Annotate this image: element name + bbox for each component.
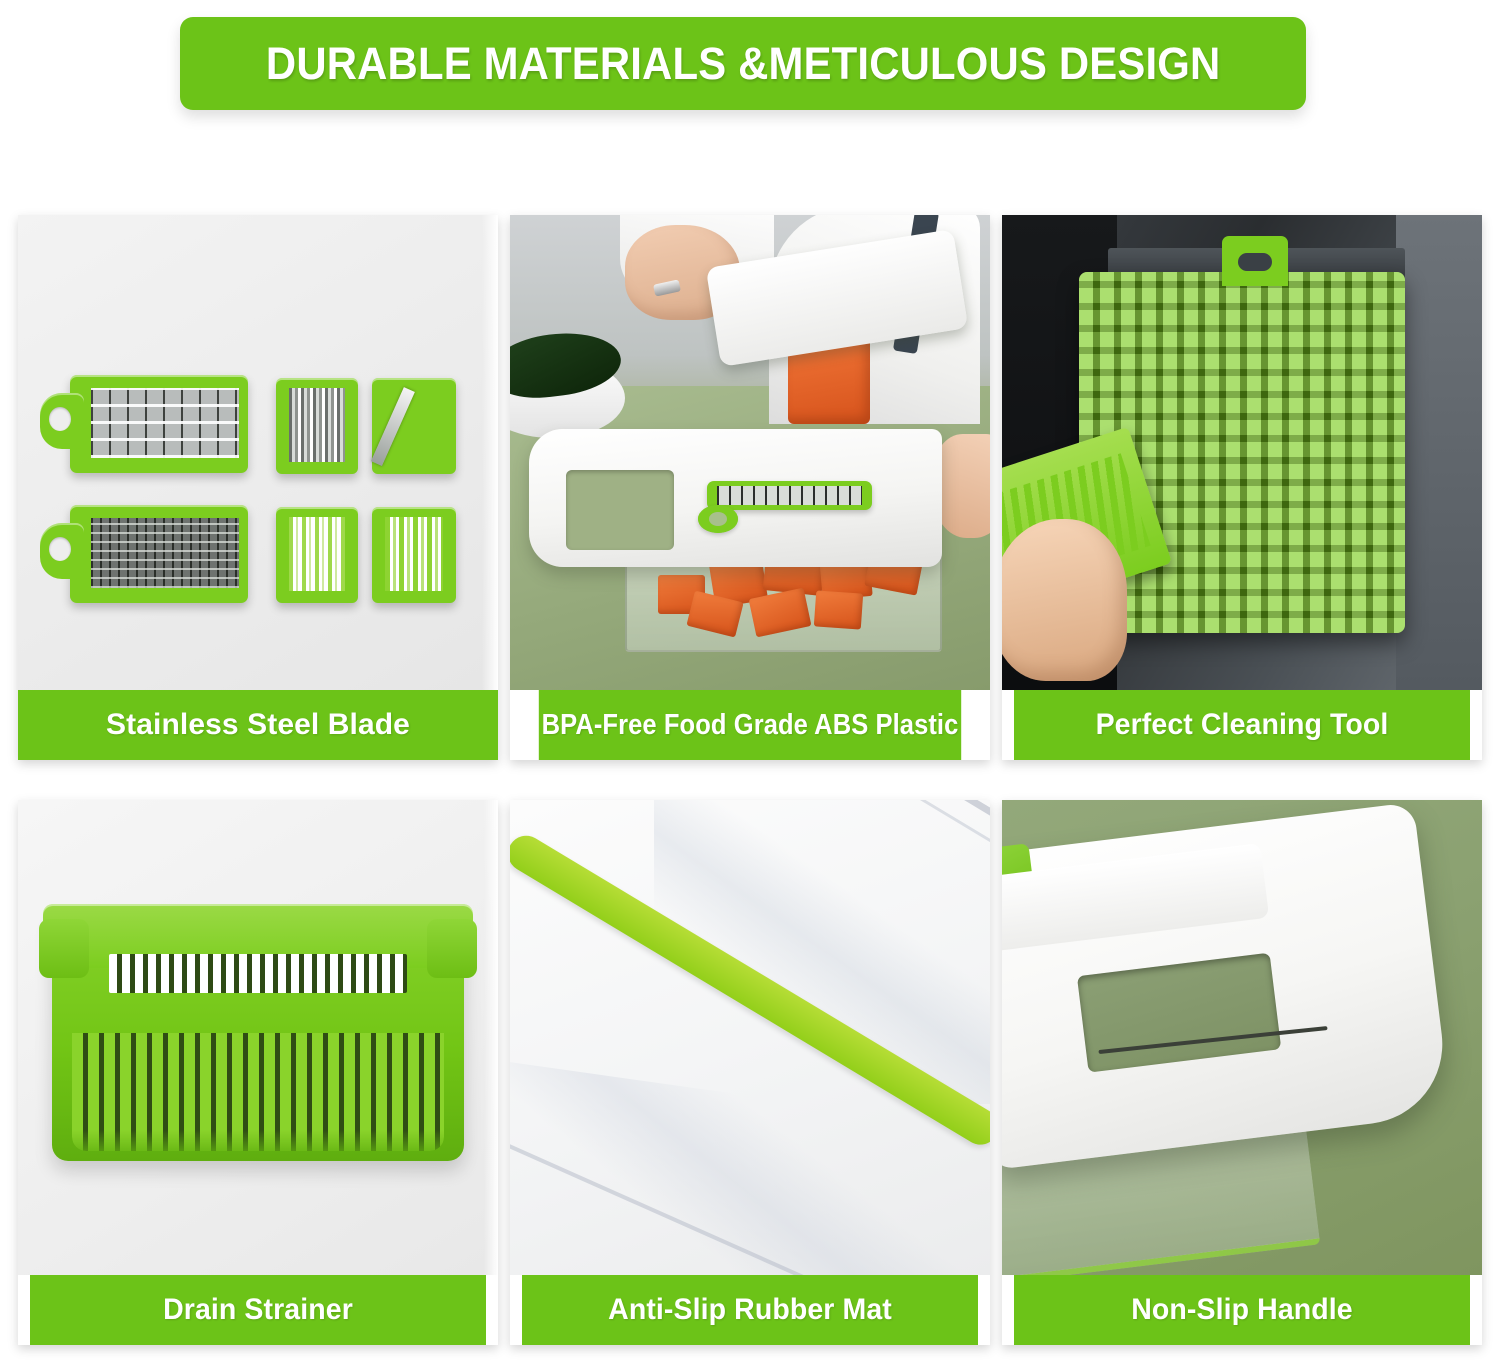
diced-carrot: [814, 590, 863, 629]
blade-hanging-loop-icon: [40, 393, 84, 450]
mandoline-chopper-body: [529, 429, 942, 567]
infographic-page: DURABLE MATERIALS &METICULOUS DESIGN: [0, 0, 1500, 1371]
feature-card-anti-slip-rubber-mat: Anti-Slip Rubber Mat: [510, 800, 990, 1345]
dicing-blade-large-1: [70, 375, 248, 473]
strainer-inner-slots: [109, 954, 406, 994]
feature-card-stainless-steel-blade: Stainless Steel Blade: [18, 215, 498, 760]
card-label-stainless-steel-blade: Stainless Steel Blade: [18, 690, 498, 760]
strainer-drain-slots: [72, 1033, 444, 1152]
dicing-blade-large-2: [70, 505, 248, 603]
green-surface-scene: [1002, 800, 1482, 1275]
rubber-mat-image: [510, 800, 990, 1275]
drain-strainer-image: [18, 800, 498, 1275]
installed-dicing-blade: [707, 481, 872, 510]
blade-grid-surface: [91, 388, 239, 459]
non-slip-handle-image: [1002, 800, 1482, 1275]
chopper-in-use-image: [510, 215, 990, 690]
page-title: DURABLE MATERIALS &METICULOUS DESIGN: [266, 38, 1221, 90]
white-handle-unit: [1002, 802, 1451, 1169]
hanging-tab-icon: [1222, 236, 1287, 287]
shredder-blade-insert-2: [372, 507, 456, 603]
handle-opening: [566, 470, 673, 550]
feature-card-perfect-cleaning-tool: Perfect Cleaning Tool: [1002, 215, 1482, 760]
feature-card-grid: Stainless Steel Blade: [18, 215, 1482, 1345]
feature-card-drain-strainer: Drain Strainer: [18, 800, 498, 1345]
blade-hanging-loop-icon-2: [40, 523, 84, 580]
handle-grip-opening: [1077, 952, 1281, 1072]
julienne-zigzag-blades: [289, 388, 345, 463]
strainer-handle-right: [427, 919, 477, 978]
kitchen-scene: [510, 215, 990, 690]
blade-horizontal-blades-fine: [91, 518, 239, 589]
shredder-teeth-2: [385, 517, 442, 592]
feature-card-bpa-free-abs-plastic: BPA-Free Food Grade ABS Plastic: [510, 215, 990, 760]
card-label-anti-slip-rubber-mat: Anti-Slip Rubber Mat: [522, 1275, 978, 1345]
drain-strainer-basket: [52, 914, 465, 1161]
blade-set-image: [18, 215, 498, 690]
shredder-blade-insert-1: [276, 507, 358, 603]
card-label-non-slip-handle: Non-Slip Handle: [1014, 1275, 1470, 1345]
cleaning-tool-image: [1002, 215, 1482, 690]
blade-release-knob: [698, 505, 738, 533]
slicer-blade-insert: [372, 378, 456, 474]
blade-fine-grid-surface: [91, 518, 239, 589]
slicer-straight-blade: [371, 387, 415, 465]
strainer-handle-left: [39, 919, 89, 978]
blade-horizontal-blades: [91, 388, 239, 459]
julienne-teeth: [289, 388, 345, 463]
dark-scene: [1002, 215, 1482, 690]
header-banner: DURABLE MATERIALS &METICULOUS DESIGN: [180, 17, 1306, 110]
clear-container-closeup: [510, 800, 990, 1275]
feature-card-non-slip-handle: Non-Slip Handle: [1002, 800, 1482, 1345]
shredder-comb-2: [385, 517, 442, 592]
card-label-drain-strainer: Drain Strainer: [30, 1275, 486, 1345]
shredder-teeth-1: [289, 517, 345, 592]
handle-top-ridge: [1002, 842, 1270, 951]
shredder-comb-1: [289, 517, 345, 592]
gray-wall-panel: [1396, 215, 1482, 690]
card-label-bpa-free-abs-plastic: BPA-Free Food Grade ABS Plastic: [539, 690, 961, 760]
hand-holding-cleaning-tool: [1002, 519, 1127, 681]
card-label-perfect-cleaning-tool: Perfect Cleaning Tool: [1014, 690, 1470, 760]
julienne-blade-insert: [276, 378, 358, 474]
